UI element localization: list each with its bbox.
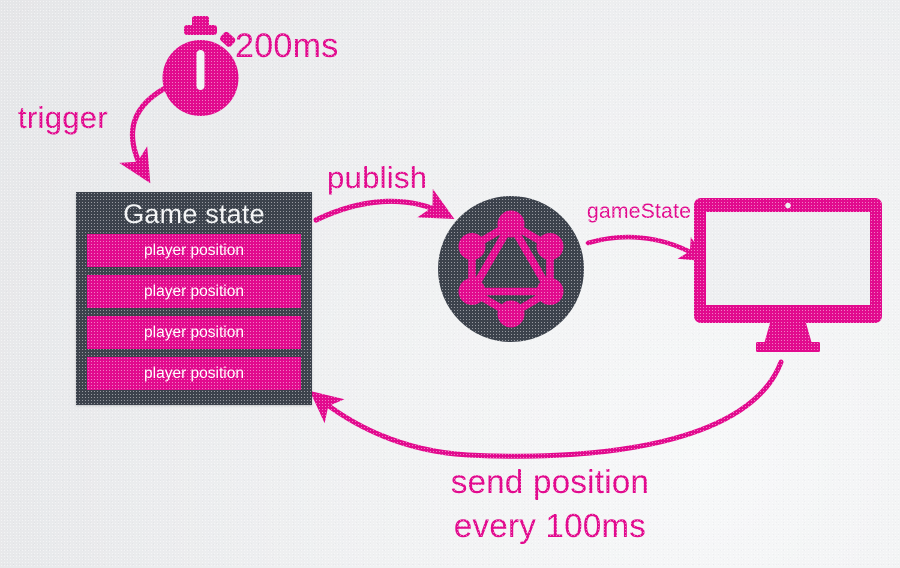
player-position-row: player position bbox=[87, 275, 301, 308]
player-position-row: player position bbox=[87, 316, 301, 349]
send-position-line-1: send position bbox=[390, 460, 710, 504]
send-position-line-2: every 100ms bbox=[390, 504, 710, 548]
diagram-canvas: Game state player position player positi… bbox=[0, 0, 900, 568]
monitor-icon bbox=[694, 198, 882, 352]
gamestate-payload-label: gameState bbox=[587, 200, 691, 224]
publish-arrow bbox=[316, 201, 447, 220]
publish-label: publish bbox=[327, 160, 427, 196]
timer-duration-label: 200ms bbox=[235, 27, 339, 66]
game-state-title: Game state bbox=[87, 196, 301, 234]
game-state-panel: Game state player position player positi… bbox=[76, 192, 312, 405]
player-position-row: player position bbox=[87, 234, 301, 267]
send-position-arrow bbox=[316, 362, 781, 456]
trigger-arrow bbox=[132, 84, 173, 176]
graphql-logo-icon bbox=[438, 196, 584, 342]
gamestate-arrow bbox=[588, 237, 701, 258]
stopwatch-icon bbox=[163, 16, 239, 116]
player-position-row: player position bbox=[87, 357, 301, 390]
send-position-label: send position every 100ms bbox=[390, 460, 710, 548]
trigger-label: trigger bbox=[18, 100, 108, 136]
